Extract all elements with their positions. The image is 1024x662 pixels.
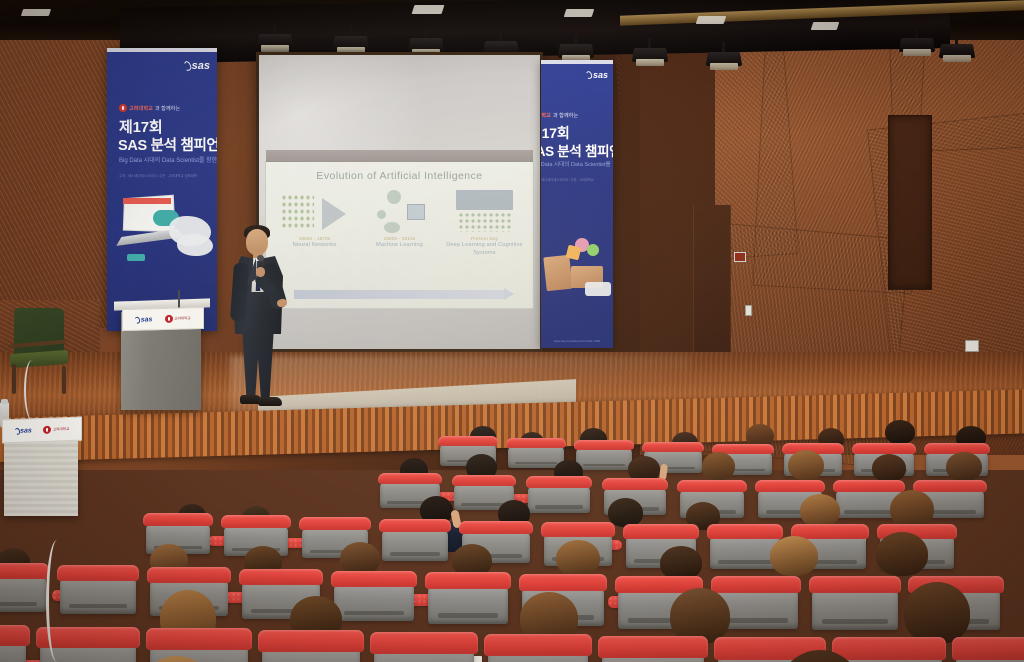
microphone-head-icon xyxy=(257,255,264,261)
auditorium-seat[interactable] xyxy=(334,584,414,621)
auditorium-seat[interactable] xyxy=(60,578,136,614)
wall-switch-icon[interactable] xyxy=(745,305,752,316)
banner-partner-name: 고려대학교 xyxy=(129,105,153,112)
stage-chair-leg xyxy=(62,366,66,394)
auditorium-photo: Evolution of Artificial Intelligence 195… xyxy=(0,0,1024,662)
slide-title: Evolution of Artificial Intelligence xyxy=(266,170,533,182)
auditorium-seat[interactable] xyxy=(602,654,704,662)
auditorium-seat[interactable] xyxy=(262,648,360,662)
ceiling-light xyxy=(412,5,445,14)
audience-head xyxy=(788,450,824,480)
box-illustration-icon xyxy=(543,255,572,292)
banner-top-bar xyxy=(107,48,217,52)
banner-heading-2: SAS 분석 챔피언십 xyxy=(541,140,613,160)
screen-surface: Evolution of Artificial Intelligence 195… xyxy=(259,55,540,349)
audience-head xyxy=(885,420,915,444)
stage-spotlight-icon xyxy=(258,24,292,54)
audience-head xyxy=(872,454,906,482)
banner-kicker-suffix: 과 함께하는 xyxy=(553,112,578,119)
auditorium-seat[interactable] xyxy=(528,486,590,513)
deep-learning-illustration xyxy=(445,188,524,234)
partner-logo: 고려대학교 xyxy=(165,314,191,323)
auditorium-seat[interactable] xyxy=(382,530,448,561)
timeline-arrow-icon xyxy=(294,290,505,299)
auditorium-seat[interactable] xyxy=(836,656,942,662)
event-banner-left: sas 고려대학교 과 함께하는 제17회 SAS 분석 챔피언십 Big Da… xyxy=(107,48,217,331)
paper-blob-icon xyxy=(177,234,213,256)
event-banner-right: sas 고려대학교 과 함께하는 제17회 SAS 분석 챔피언십 Big Da… xyxy=(541,60,613,348)
slide-top-band xyxy=(266,150,533,162)
auditorium-seat[interactable] xyxy=(812,590,898,630)
slide-column: 1980s - 2010s Machine Learning xyxy=(360,188,439,250)
sas-logo-icon: sas xyxy=(184,60,210,72)
auditorium-seat[interactable] xyxy=(0,576,46,612)
auditorium-seat[interactable] xyxy=(488,652,588,662)
stage-chair-back[interactable] xyxy=(14,308,64,356)
banner-fine-print: 주최 : 에스에이에스코리아 / 주관 : 고려대학교 정보대학 xyxy=(119,173,197,178)
sas-logo-icon: sas xyxy=(586,70,608,80)
podium-sign: sas 고려대학교 xyxy=(122,307,204,331)
green-shape-icon xyxy=(587,244,599,256)
audience-head xyxy=(904,582,970,644)
banner-kicker: 고려대학교 과 함께하는 xyxy=(541,111,578,119)
audience-head xyxy=(556,540,600,576)
auditorium-seat[interactable] xyxy=(428,586,508,624)
ceiling-light xyxy=(696,16,727,24)
audience-seating xyxy=(0,404,1024,662)
stage-spotlight-icon xyxy=(940,34,974,64)
slide-column: Present Day Deep Learning and Cognitive … xyxy=(445,188,524,257)
triangle-shape-icon xyxy=(322,198,346,230)
banner-heading-2: SAS 분석 챔피언십 xyxy=(118,134,217,155)
presenter-hand-holding-mic xyxy=(256,267,265,277)
ceiling-light xyxy=(21,9,51,16)
audience-head xyxy=(890,490,934,528)
wall-panel-plate[interactable] xyxy=(965,340,979,352)
sas-logo-text: sas xyxy=(141,316,153,323)
dl-dot-grid xyxy=(458,212,512,232)
paper-blob-icon xyxy=(585,282,611,296)
banner-subtitle: Big Data 시대의 Data Scientist를 향한 도전 xyxy=(119,155,217,164)
partner-mark-icon xyxy=(119,104,127,112)
audience-head xyxy=(946,452,982,481)
auditorium-seat[interactable] xyxy=(576,448,632,470)
slide-columns: 1950s - 1970s Neural Networks 1980s - 20… xyxy=(272,188,527,276)
dl-panel-icon xyxy=(456,190,513,210)
stage-spotlight-icon xyxy=(707,42,741,72)
audience-head xyxy=(770,536,818,576)
ceiling-light xyxy=(811,22,840,30)
teal-chip-icon xyxy=(127,254,145,261)
neuron-dot-grid xyxy=(281,194,314,228)
ceiling-light xyxy=(564,9,595,17)
auditorium-seat[interactable] xyxy=(0,642,26,662)
projection-screen: Evolution of Artificial Intelligence 195… xyxy=(256,52,543,352)
audience-head xyxy=(608,498,643,527)
floor-cable xyxy=(46,540,68,662)
sas-logo-text: sas xyxy=(593,70,608,80)
presenter-trousers xyxy=(240,329,276,399)
stage-side-door[interactable] xyxy=(693,205,731,355)
banner-kicker: 고려대학교 과 함께하는 xyxy=(119,104,180,112)
ml-node-icon xyxy=(387,190,401,204)
audience-head xyxy=(800,494,840,527)
slide-column-label: Deep Learning and Cognitive Systems xyxy=(445,242,524,257)
sas-logo-text: sas xyxy=(192,60,210,72)
banner-kicker-suffix: 과 함께하는 xyxy=(155,105,180,112)
auditorium-seat[interactable] xyxy=(374,650,474,662)
machine-learning-illustration xyxy=(360,188,439,234)
stage-spotlight-icon xyxy=(633,38,667,68)
banner-top-bar xyxy=(541,60,613,64)
ml-node-icon xyxy=(377,210,386,219)
presenter-hand xyxy=(276,298,287,308)
partner-mark-icon xyxy=(165,315,173,323)
banner-fine-print: 주최 : 에스에이에스코리아 / 주관 : 고려대학교 xyxy=(541,177,594,182)
banner-footer: www.sas.com/korea 02-2191-7000 xyxy=(547,339,607,343)
slide-column-label: Machine Learning xyxy=(360,242,439,250)
stage-spotlight-icon xyxy=(900,28,934,58)
auditorium-seat[interactable] xyxy=(956,656,1024,662)
ml-node-icon xyxy=(384,222,400,233)
audience-head xyxy=(702,452,735,480)
sas-logo-icon: sas xyxy=(135,316,152,323)
presentation-slide: Evolution of Artificial Intelligence 195… xyxy=(265,161,534,309)
banner-partner-name: 고려대학교 xyxy=(541,112,551,119)
orange-shape-icon xyxy=(566,245,582,261)
presenter xyxy=(224,225,296,410)
left-wood-panel xyxy=(0,28,118,328)
audience-head xyxy=(660,546,702,580)
laptop-bar-icon xyxy=(123,198,171,204)
wall-recessed-panel xyxy=(888,115,932,290)
stage-chair-leg xyxy=(12,364,16,394)
banner-subtitle: Big Data 시대의 Data Scientist를 향한 도전 xyxy=(541,160,613,168)
audience-head xyxy=(876,532,928,576)
ml-box-icon xyxy=(407,204,425,220)
emergency-sign-icon xyxy=(734,252,746,262)
partner-name: 고려대학교 xyxy=(174,316,191,321)
